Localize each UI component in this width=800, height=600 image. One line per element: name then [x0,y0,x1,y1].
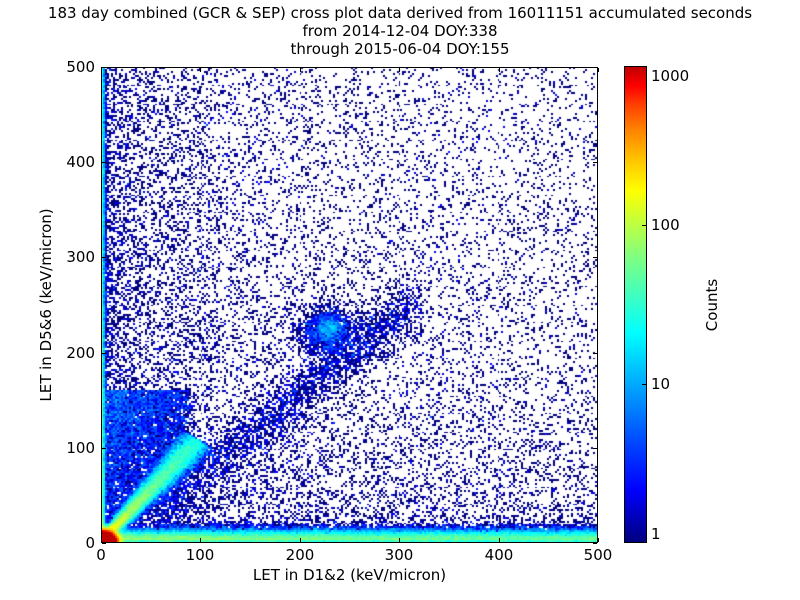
x-tick-mark [598,68,599,72]
x-tick-mark [499,538,500,542]
x-tick-label: 200 [286,546,315,564]
colorbar-tick-label: 100 [651,216,680,234]
chart-title: 183 day combined (GCR & SEP) cross plot … [0,4,800,58]
colorbar-tick-label: 1000 [651,67,689,85]
y-tick-mark [102,543,106,544]
y-tick-mark [593,448,597,449]
y-tick-label: 300 [66,248,95,266]
y-tick-label: 200 [66,344,95,362]
colorbar-label: Counts [703,279,721,331]
x-tick-label: 300 [385,546,414,564]
y-tick-label: 0 [85,534,95,552]
x-tick-mark [499,68,500,72]
y-tick-mark [593,543,597,544]
title-line-through: through 2015-06-04 DOY:155 [0,40,800,58]
colorbar-tick-label: 10 [651,375,670,393]
y-tick-mark [102,353,106,354]
x-tick-mark [300,68,301,72]
x-tick-mark [399,538,400,542]
colorbar[interactable]: 1101001000 [624,66,647,543]
x-tick-mark [200,68,201,72]
colorbar-tick-mark [642,225,647,226]
scatter-plot-area[interactable] [101,67,598,543]
y-tick-mark [102,257,106,258]
x-tick-label: 100 [186,546,215,564]
x-tick-mark [300,538,301,542]
y-tick-mark [102,448,106,449]
x-tick-label: 500 [584,546,613,564]
colorbar-gradient [624,66,647,543]
x-tick-mark [399,68,400,72]
y-tick-mark [102,67,106,68]
y-tick-mark [593,67,597,68]
y-tick-label: 500 [66,58,95,76]
x-tick-mark [200,538,201,542]
y-tick-mark [593,162,597,163]
x-tick-mark [101,538,102,542]
y-axis-label: LET in D5&6 (keV/micron) [37,208,55,401]
x-tick-label: 0 [96,546,106,564]
figure-canvas: 183 day combined (GCR & SEP) cross plot … [0,0,800,600]
x-axis-label: LET in D1&2 (keV/micron) [101,566,598,584]
y-tick-mark [593,257,597,258]
y-tick-label: 400 [66,153,95,171]
y-tick-label: 100 [66,439,95,457]
y-tick-mark [102,162,106,163]
title-line-main: 183 day combined (GCR & SEP) cross plot … [0,4,800,22]
colorbar-tick-label: 1 [651,525,661,543]
x-tick-label: 400 [485,546,514,564]
colorbar-tick-mark [642,384,647,385]
x-tick-mark [598,538,599,542]
x-tick-mark [101,68,102,72]
y-tick-mark [593,353,597,354]
let-cross-plot-heatmap [102,68,597,542]
title-line-from: from 2014-12-04 DOY:338 [0,22,800,40]
